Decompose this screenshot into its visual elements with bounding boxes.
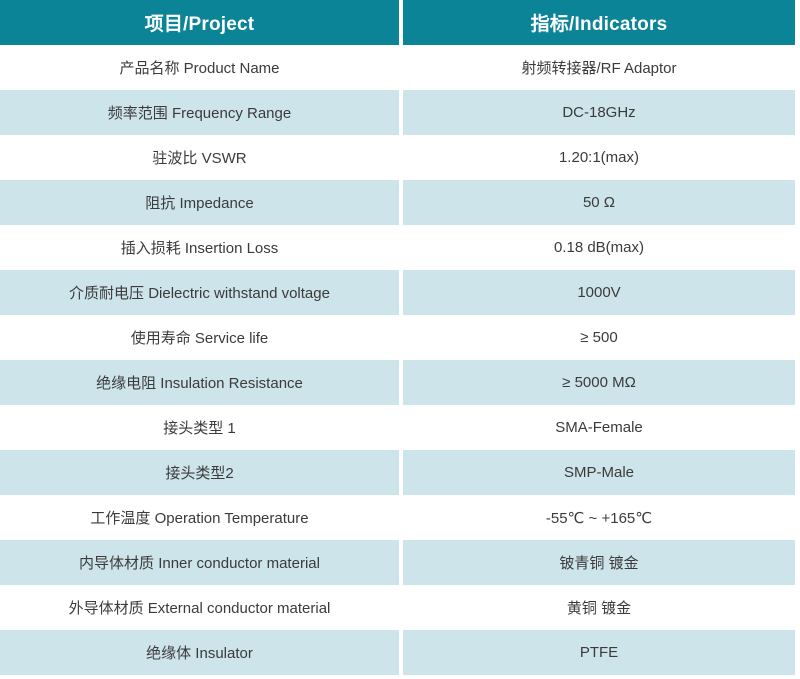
table-row: 工作温度 Operation Temperature-55℃ ~ +165℃ <box>0 495 795 540</box>
cell-project: 阻抗 Impedance <box>0 180 399 225</box>
cell-project: 介质耐电压 Dielectric withstand voltage <box>0 270 399 315</box>
table-row: 驻波比 VSWR1.20:1(max) <box>0 135 795 180</box>
table-row: 使用寿命 Service life≥ 500 <box>0 315 795 360</box>
cell-project: 使用寿命 Service life <box>0 315 399 360</box>
table-row: 内导体材质 Inner conductor material铍青铜 镀金 <box>0 540 795 585</box>
cell-project: 接头类型 1 <box>0 405 399 450</box>
table-row: 插入损耗 Insertion Loss0.18 dB(max) <box>0 225 795 270</box>
cell-project: 绝缘体 Insulator <box>0 630 399 675</box>
table-row: 介质耐电压 Dielectric withstand voltage1000V <box>0 270 795 315</box>
header-row: 项目/Project 指标/Indicators <box>0 0 795 45</box>
cell-indicator: 黄铜 镀金 <box>403 585 795 630</box>
cell-project: 外导体材质 External conductor material <box>0 585 399 630</box>
cell-indicator: PTFE <box>403 630 795 675</box>
specification-table: 项目/Project 指标/Indicators 产品名称 Product Na… <box>0 0 795 675</box>
table-row: 阻抗 Impedance50 Ω <box>0 180 795 225</box>
table-row: 绝缘体 InsulatorPTFE <box>0 630 795 675</box>
cell-indicator: 0.18 dB(max) <box>403 225 795 270</box>
cell-indicator: 1000V <box>403 270 795 315</box>
cell-project: 绝缘电阻 Insulation Resistance <box>0 360 399 405</box>
table-row: 接头类型 1SMA-Female <box>0 405 795 450</box>
cell-indicator: -55℃ ~ +165℃ <box>403 495 795 540</box>
cell-project: 驻波比 VSWR <box>0 135 399 180</box>
cell-indicator: DC-18GHz <box>403 90 795 135</box>
table-row: 产品名称 Product Name射频转接器/RF Adaptor <box>0 45 795 90</box>
cell-project: 内导体材质 Inner conductor material <box>0 540 399 585</box>
column-header-indicators: 指标/Indicators <box>403 0 795 45</box>
table-row: 频率范围 Frequency RangeDC-18GHz <box>0 90 795 135</box>
table-body: 产品名称 Product Name射频转接器/RF Adaptor频率范围 Fr… <box>0 45 795 675</box>
table-row: 接头类型2SMP-Male <box>0 450 795 495</box>
cell-indicator: 射频转接器/RF Adaptor <box>403 45 795 90</box>
cell-indicator: SMP-Male <box>403 450 795 495</box>
cell-project: 工作温度 Operation Temperature <box>0 495 399 540</box>
cell-indicator: 1.20:1(max) <box>403 135 795 180</box>
cell-project: 频率范围 Frequency Range <box>0 90 399 135</box>
cell-indicator: ≥ 5000 MΩ <box>403 360 795 405</box>
cell-indicator: 铍青铜 镀金 <box>403 540 795 585</box>
table-row: 绝缘电阻 Insulation Resistance≥ 5000 MΩ <box>0 360 795 405</box>
cell-indicator: ≥ 500 <box>403 315 795 360</box>
cell-indicator: 50 Ω <box>403 180 795 225</box>
cell-project: 接头类型2 <box>0 450 399 495</box>
cell-project: 插入损耗 Insertion Loss <box>0 225 399 270</box>
table-header: 项目/Project 指标/Indicators <box>0 0 795 45</box>
table-row: 外导体材质 External conductor material黄铜 镀金 <box>0 585 795 630</box>
cell-indicator: SMA-Female <box>403 405 795 450</box>
cell-project: 产品名称 Product Name <box>0 45 399 90</box>
column-header-project: 项目/Project <box>0 0 399 45</box>
